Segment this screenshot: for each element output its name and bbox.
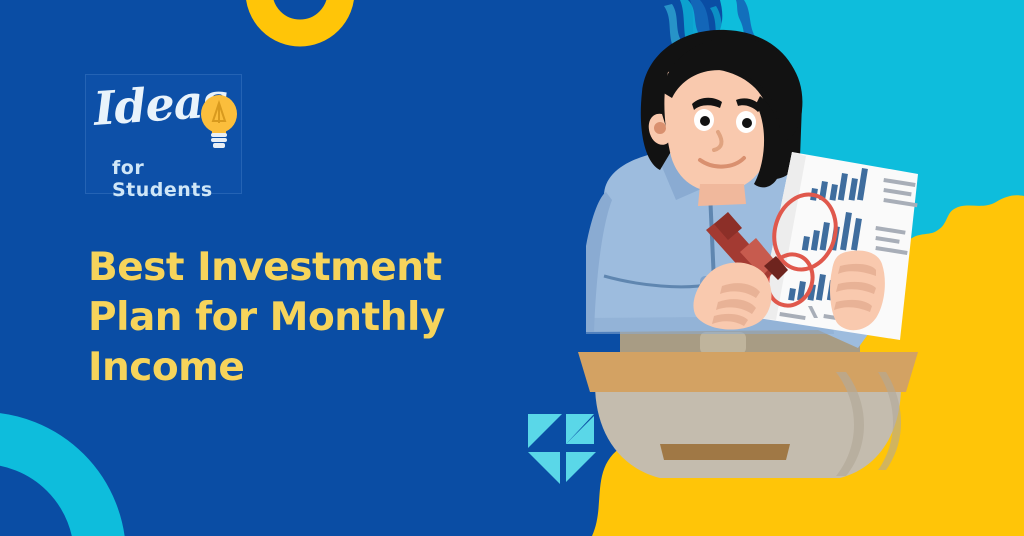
logo-wordmark: Ideas (92, 75, 205, 135)
lightbulb-icon (198, 93, 240, 151)
page-title: Best Investment Plan for Monthly Income (88, 243, 478, 393)
banner-graphic: Ideas for Students Best Investment Plan … (0, 0, 1024, 536)
podium-desk (578, 330, 918, 478)
logo-tagline: for Students (112, 157, 241, 201)
logo-ideas-for-students[interactable]: Ideas for Students (85, 74, 242, 194)
